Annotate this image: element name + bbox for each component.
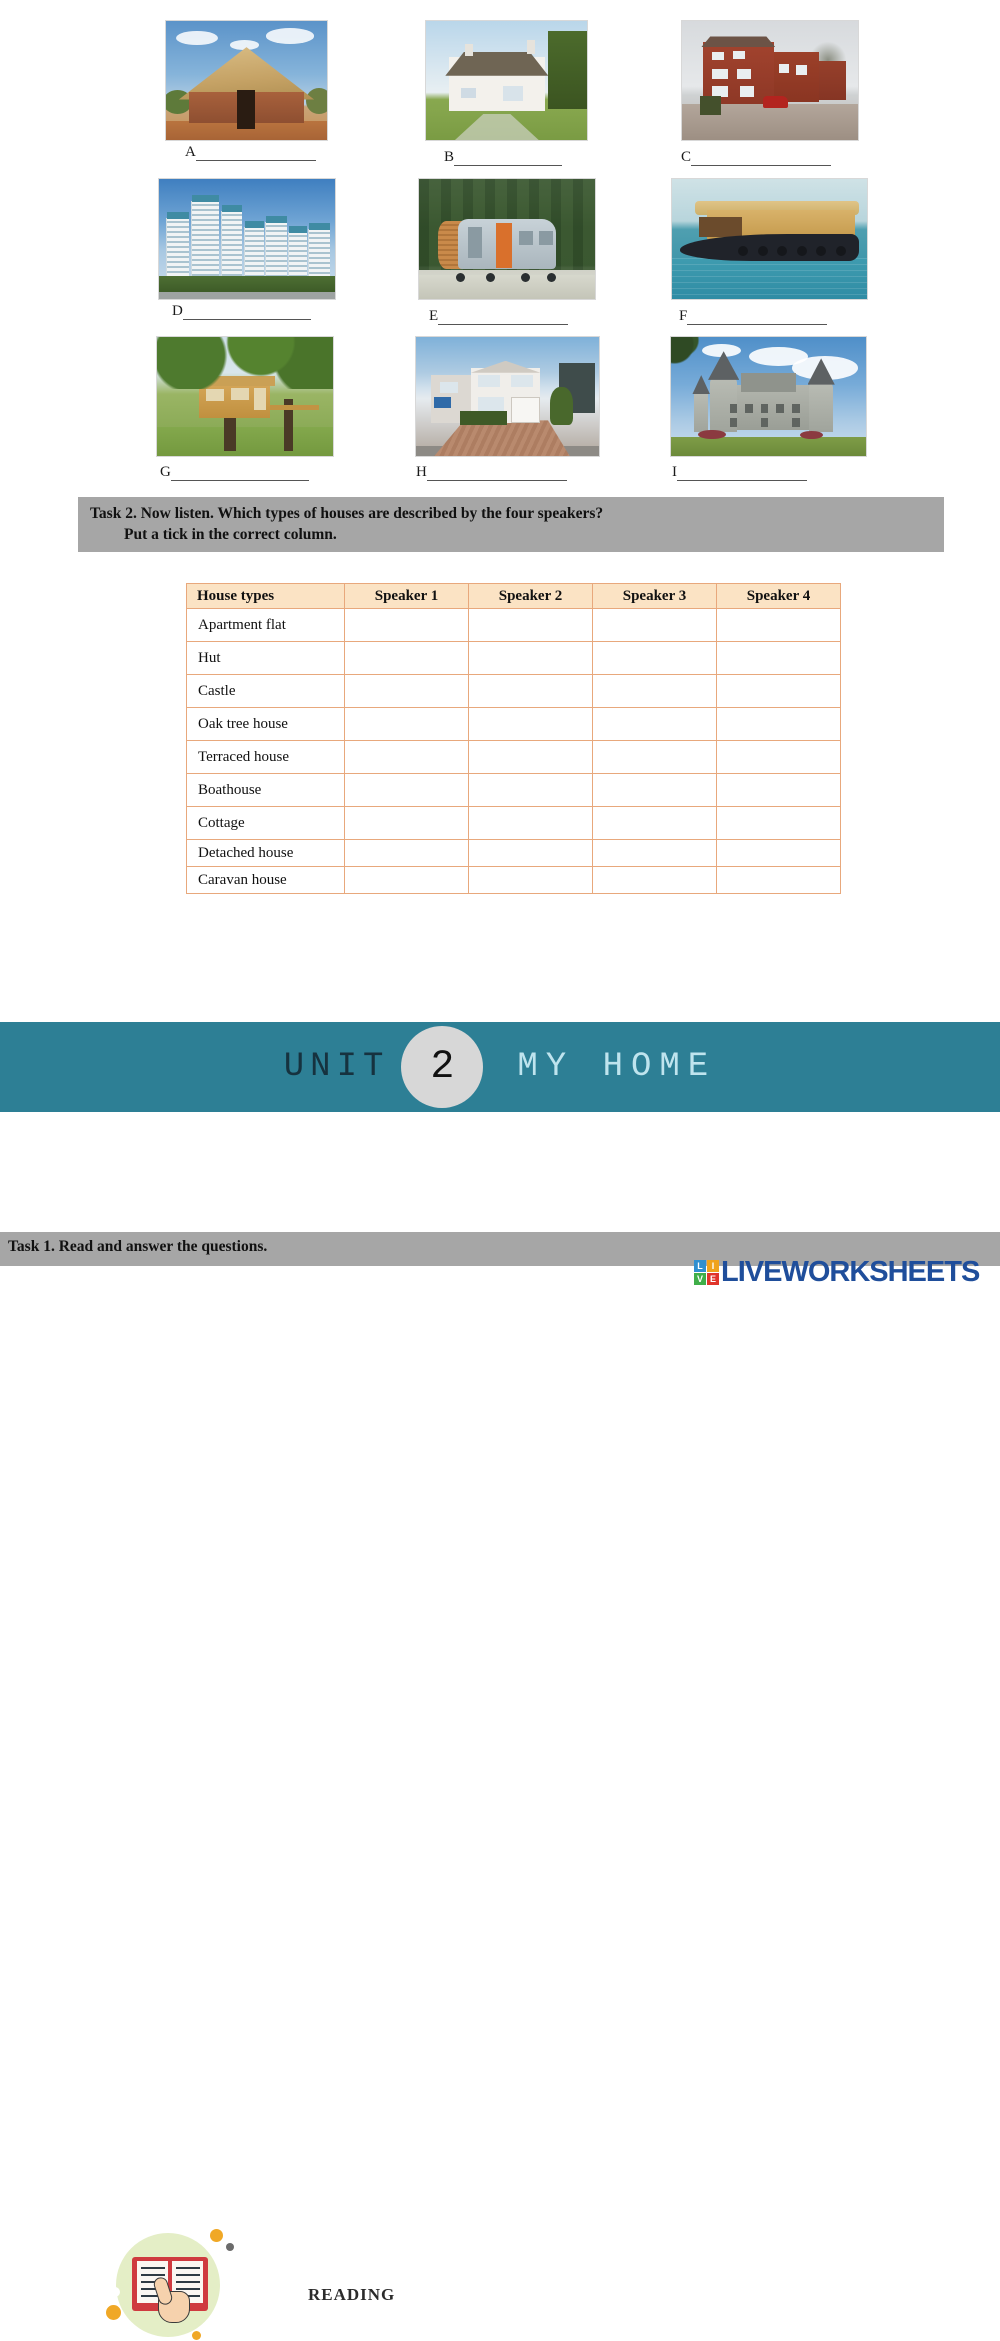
row-label-terraced-house: Terraced house [187,741,345,774]
tick-cell[interactable] [345,807,469,840]
photo-label-e: E [429,308,568,325]
tick-cell[interactable] [469,840,593,867]
tick-cell[interactable] [469,807,593,840]
photo-castle [670,336,867,457]
task2-line-1: Task 2. Now listen. Which types of house… [90,503,944,524]
photo-letter-d: D [172,303,183,319]
tick-cell[interactable] [717,708,841,741]
answer-blank-i[interactable] [677,468,807,481]
logo-tiles: L I V E [694,1260,719,1285]
tick-cell[interactable] [345,675,469,708]
row-label-hut: Hut [187,642,345,675]
tick-cell[interactable] [717,642,841,675]
tick-cell[interactable] [593,609,717,642]
table-row: Caravan house [187,867,841,894]
photo-label-d: D [172,303,311,320]
house-types-table-wrap: House types Speaker 1 Speaker 2 Speaker … [186,583,840,894]
tick-cell[interactable] [345,867,469,894]
table-row: Terraced house [187,741,841,774]
tick-cell[interactable] [469,708,593,741]
decor-dot-orange-2 [106,2305,121,2320]
house-photo-grid: A B [0,0,1000,485]
column-header-speaker-1: Speaker 1 [345,584,469,609]
photo-cottage [425,20,588,141]
photo-label-a: A [185,144,316,161]
table-row: Castle [187,675,841,708]
photo-caravan-house [418,178,596,300]
tick-cell[interactable] [717,741,841,774]
answer-blank-b[interactable] [454,153,562,166]
answer-blank-h[interactable] [427,468,567,481]
unit-banner: UNIT 2 MY HOME [0,1022,1000,1112]
photo-letter-h: H [416,464,427,480]
photo-letter-c: C [681,149,691,165]
column-header-house-types: House types [187,584,345,609]
photo-apartment-towers [158,178,336,300]
table-row: Detached house [187,840,841,867]
photo-terraced-houses [681,20,859,141]
logo-tile-v: V [694,1273,706,1285]
photo-label-c: C [681,149,831,166]
decor-dot-white [220,2263,229,2272]
row-label-oak-tree-house: Oak tree house [187,708,345,741]
reading-label: READING [308,2285,395,2305]
tick-cell[interactable] [593,741,717,774]
photo-hut [165,20,328,141]
answer-blank-g[interactable] [171,468,309,481]
tick-cell[interactable] [469,642,593,675]
table-row: Boathouse [187,774,841,807]
photo-letter-g: G [160,464,171,480]
photo-detached-house [415,336,600,457]
tick-cell[interactable] [469,741,593,774]
decor-dot-gray [226,2243,234,2251]
task1-text: Task 1. Read and answer the questions. [8,1238,267,1256]
decor-dot-white-2 [110,2287,120,2297]
unit-word: UNIT [284,1048,390,1086]
tick-cell[interactable] [345,708,469,741]
column-header-speaker-2: Speaker 2 [469,584,593,609]
logo-wordmark: LIVEWORKSHEETS [721,1256,979,1289]
row-label-detached-house: Detached house [187,840,345,867]
table-row: Oak tree house [187,708,841,741]
table-header-row: House types Speaker 1 Speaker 2 Speaker … [187,584,841,609]
photo-tree-house [156,336,334,457]
answer-blank-d[interactable] [183,307,311,320]
tick-cell[interactable] [345,840,469,867]
tick-cell[interactable] [717,609,841,642]
row-label-cottage: Cottage [187,807,345,840]
row-label-boathouse: Boathouse [187,774,345,807]
tick-cell[interactable] [469,867,593,894]
unit-title: MY HOME [517,1048,716,1086]
house-types-table: House types Speaker 1 Speaker 2 Speaker … [186,583,841,894]
task2-line-2: Put a tick in the correct column. [90,524,944,545]
reading-section: READING [0,1112,1000,1232]
decor-dot-orange [210,2229,223,2242]
photo-letter-e: E [429,308,438,324]
tick-cell[interactable] [345,774,469,807]
tick-cell[interactable] [593,807,717,840]
answer-blank-a[interactable] [196,148,316,161]
photo-label-i: I [672,464,807,481]
tick-cell[interactable] [593,675,717,708]
tick-cell[interactable] [593,867,717,894]
answer-blank-c[interactable] [691,153,831,166]
row-label-castle: Castle [187,675,345,708]
logo-tile-e: E [707,1273,719,1285]
row-label-caravan-house: Caravan house [187,867,345,894]
tick-cell[interactable] [345,609,469,642]
photo-letter-a: A [185,144,196,160]
tick-cell[interactable] [345,642,469,675]
logo-tile-i: I [707,1260,719,1272]
column-header-speaker-3: Speaker 3 [593,584,717,609]
answer-blank-f[interactable] [687,312,827,325]
unit-number: 2 [430,1045,454,1090]
row-label-apartment-flat: Apartment flat [187,609,345,642]
task2-instruction-banner: Task 2. Now listen. Which types of house… [78,497,944,552]
table-row: Cottage [187,807,841,840]
tick-cell[interactable] [717,675,841,708]
table-row: Hut [187,642,841,675]
tick-cell[interactable] [469,675,593,708]
tick-cell[interactable] [469,774,593,807]
tick-cell[interactable] [717,807,841,840]
tick-cell[interactable] [469,609,593,642]
column-header-speaker-4: Speaker 4 [717,584,841,609]
photo-label-g: G [160,464,309,481]
unit-number-circle: 2 [401,1026,483,1108]
tick-cell[interactable] [593,708,717,741]
photo-label-b: B [444,149,562,166]
tick-cell[interactable] [593,774,717,807]
decor-dot-orange-3 [192,2331,201,2340]
tick-cell[interactable] [717,840,841,867]
photo-label-f: F [679,308,827,325]
reading-icon [106,2229,234,2341]
tick-cell[interactable] [593,642,717,675]
tick-cell[interactable] [717,774,841,807]
tick-cell[interactable] [345,741,469,774]
logo-tile-l: L [694,1260,706,1272]
liveworksheets-logo[interactable]: L I V E LIVEWORKSHEETS [694,1256,979,1288]
photo-houseboat [671,178,868,300]
table-row: Apartment flat [187,609,841,642]
photo-letter-f: F [679,308,687,324]
pointing-hand-icon [154,2277,194,2325]
answer-blank-e[interactable] [438,312,568,325]
tick-cell[interactable] [717,867,841,894]
tick-cell[interactable] [593,840,717,867]
photo-letter-b: B [444,149,454,165]
photo-label-h: H [416,464,567,481]
